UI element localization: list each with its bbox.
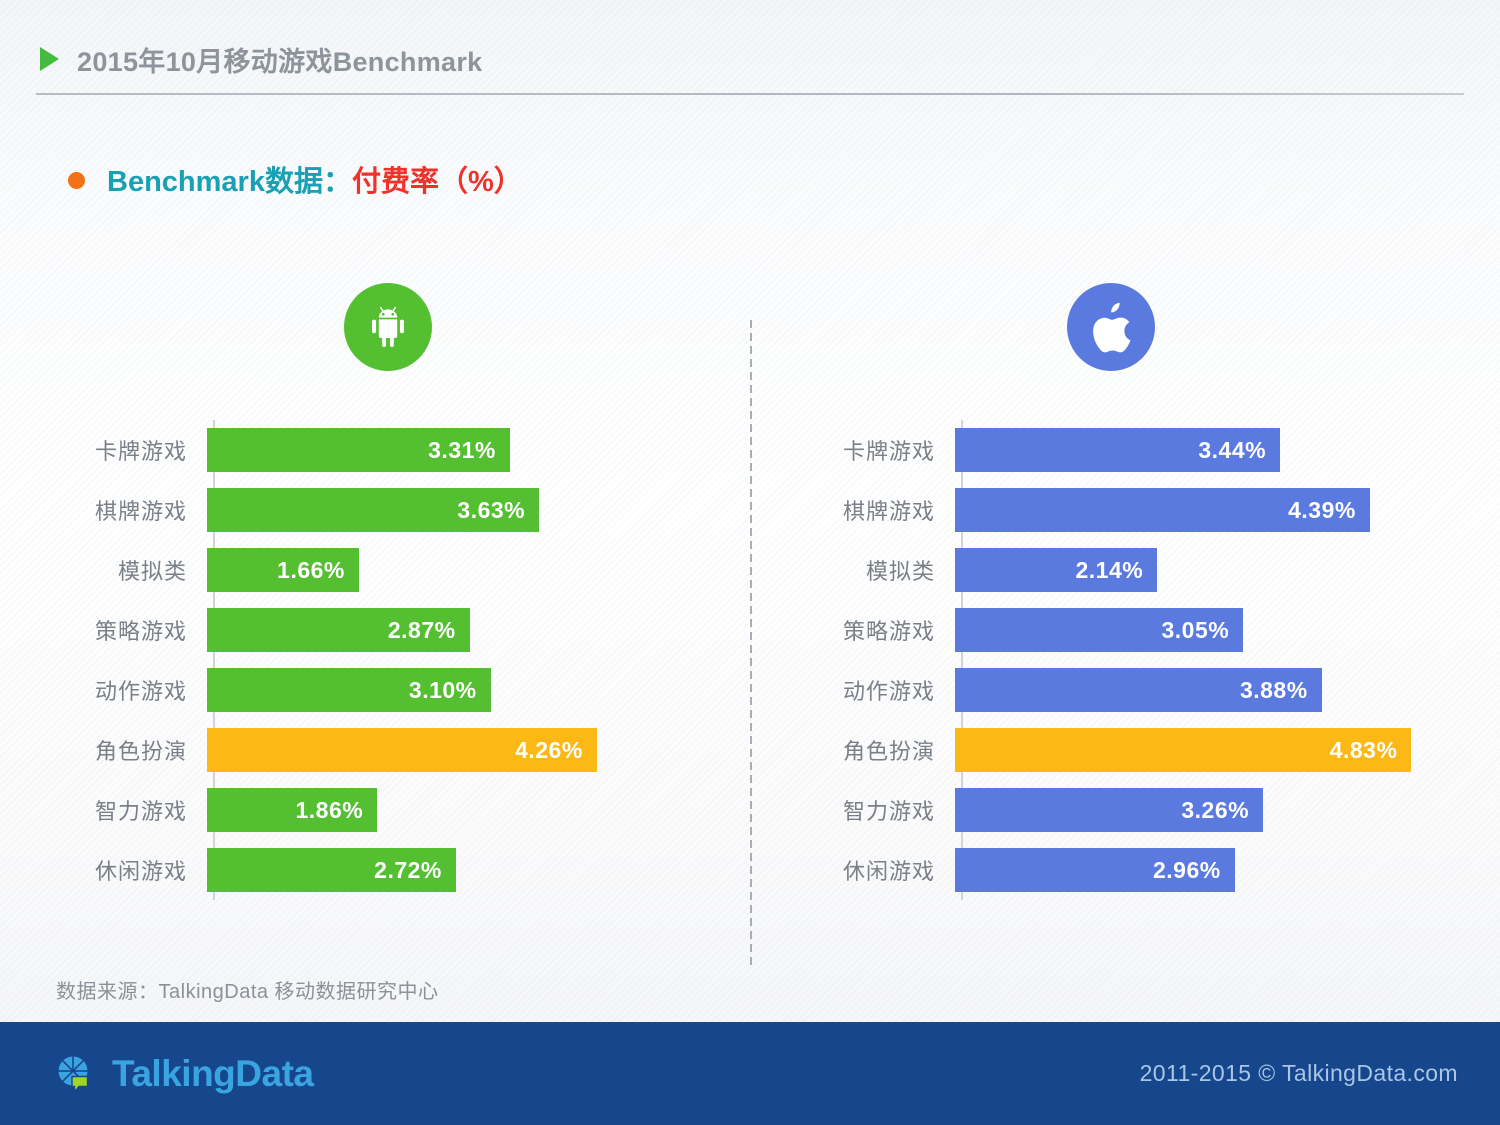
bar: 3.10% [207,668,491,712]
bar-category-label: 棋牌游戏 [60,494,205,526]
section-title-primary: Benchmark数据： [107,166,352,198]
bar: 3.88% [955,668,1322,712]
bar-category-label: 模拟类 [60,554,205,586]
talkingdata-pie-speech-icon [52,1051,98,1097]
bar-row: 卡牌游戏3.31% [60,420,700,480]
bar-track: 2.87% [205,600,700,660]
bar-track: 1.86% [205,780,700,840]
bar-value-label: 3.63% [457,497,539,524]
bar-row: 策略游戏3.05% [808,600,1448,660]
bar-value-label: 4.39% [1288,497,1370,524]
bar-track: 4.39% [953,480,1448,540]
bar-row: 策略游戏2.87% [60,600,700,660]
bar-track: 1.66% [205,540,700,600]
bar-row: 模拟类2.14% [808,540,1448,600]
bar-category-label: 智力游戏 [808,794,953,826]
bar-row: 动作游戏3.88% [808,660,1448,720]
bar-category-label: 角色扮演 [808,734,953,766]
bar-value-label: 3.31% [428,437,510,464]
slide-header: 2015年10月移动游戏Benchmark [36,28,1464,90]
section-title-accent: 付费率（%） [352,166,523,198]
bar-value-label: 2.96% [1153,857,1235,884]
bar-track: 4.26% [205,720,700,780]
bullet-dot-icon [68,172,85,189]
bar-value-label: 3.26% [1181,797,1263,824]
bar-track: 3.10% [205,660,700,720]
android-robot-icon [362,301,414,353]
bar-track: 2.14% [953,540,1448,600]
bar-track: 3.63% [205,480,700,540]
bar-track: 2.72% [205,840,700,900]
bar-track: 3.31% [205,420,700,480]
bar-track: 4.83% [953,720,1448,780]
bar-value-label: 1.66% [277,557,359,584]
bar-category-label: 休闲游戏 [60,854,205,886]
bar-track: 2.96% [953,840,1448,900]
bar: 2.96% [955,848,1235,892]
bar-category-label: 模拟类 [808,554,953,586]
bar-track: 3.44% [953,420,1448,480]
bar-category-label: 休闲游戏 [808,854,953,886]
bar-track: 3.26% [953,780,1448,840]
brand-logo: TalkingData [52,1051,313,1097]
bar-row: 动作游戏3.10% [60,660,700,720]
bar-row: 智力游戏1.86% [60,780,700,840]
bar-row: 休闲游戏2.96% [808,840,1448,900]
bar: 2.72% [207,848,456,892]
bar-track: 3.88% [953,660,1448,720]
section-heading: Benchmark数据：付费率（%） [68,158,523,200]
bar-value-label: 2.14% [1076,557,1158,584]
brand-name: TalkingData [112,1053,313,1095]
bar: 2.14% [955,548,1157,592]
bar-category-label: 角色扮演 [60,734,205,766]
bar: 4.39% [955,488,1370,532]
bar-value-label: 2.72% [374,857,456,884]
slide-footer: TalkingData 2011-2015 © TalkingData.com [0,1022,1500,1125]
copyright-text: 2011-2015 © TalkingData.com [1140,1060,1458,1087]
bar-category-label: 动作游戏 [60,674,205,706]
apple-logo-icon [1086,300,1136,354]
bar: 3.63% [207,488,539,532]
bar-highlighted: 4.83% [955,728,1411,772]
bar-category-label: 策略游戏 [60,614,205,646]
bar-category-label: 动作游戏 [808,674,953,706]
android-bar-chart: 卡牌游戏3.31%棋牌游戏3.63%模拟类1.66%策略游戏2.87%动作游戏3… [60,420,700,900]
bar-category-label: 智力游戏 [60,794,205,826]
bar: 1.66% [207,548,359,592]
bar-value-label: 3.44% [1198,437,1280,464]
bar-highlighted: 4.26% [207,728,597,772]
bar-row: 休闲游戏2.72% [60,840,700,900]
bar-category-label: 卡牌游戏 [60,434,205,466]
page-title: 2015年10月移动游戏Benchmark [77,40,482,79]
bar-category-label: 棋牌游戏 [808,494,953,526]
bar-value-label: 1.86% [295,797,377,824]
data-source-note: 数据来源：TalkingData 移动数据研究中心 [56,975,439,1004]
bar-row: 模拟类1.66% [60,540,700,600]
bar: 3.44% [955,428,1280,472]
bar: 3.31% [207,428,510,472]
bar: 2.87% [207,608,470,652]
section-title: Benchmark数据：付费率（%） [107,158,523,200]
ios-platform-badge [1067,283,1155,371]
chart-divider [750,320,752,970]
bar-row: 角色扮演4.83% [808,720,1448,780]
bar-value-label: 4.83% [1330,737,1412,764]
bar: 1.86% [207,788,377,832]
bar: 3.26% [955,788,1263,832]
bar-value-label: 2.87% [388,617,470,644]
bar-row: 棋牌游戏3.63% [60,480,700,540]
android-platform-badge [344,283,432,371]
bar-value-label: 3.88% [1240,677,1322,704]
header-divider [36,93,1464,95]
bar-track: 3.05% [953,600,1448,660]
ios-bar-chart: 卡牌游戏3.44%棋牌游戏4.39%模拟类2.14%策略游戏3.05%动作游戏3… [808,420,1448,900]
bar-value-label: 3.05% [1162,617,1244,644]
bar-category-label: 卡牌游戏 [808,434,953,466]
bar-row: 卡牌游戏3.44% [808,420,1448,480]
bar-value-label: 3.10% [409,677,491,704]
play-triangle-icon [40,47,59,71]
bar-value-label: 4.26% [515,737,597,764]
bar-row: 智力游戏3.26% [808,780,1448,840]
bar-category-label: 策略游戏 [808,614,953,646]
bar-row: 角色扮演4.26% [60,720,700,780]
bar: 3.05% [955,608,1243,652]
bar-row: 棋牌游戏4.39% [808,480,1448,540]
